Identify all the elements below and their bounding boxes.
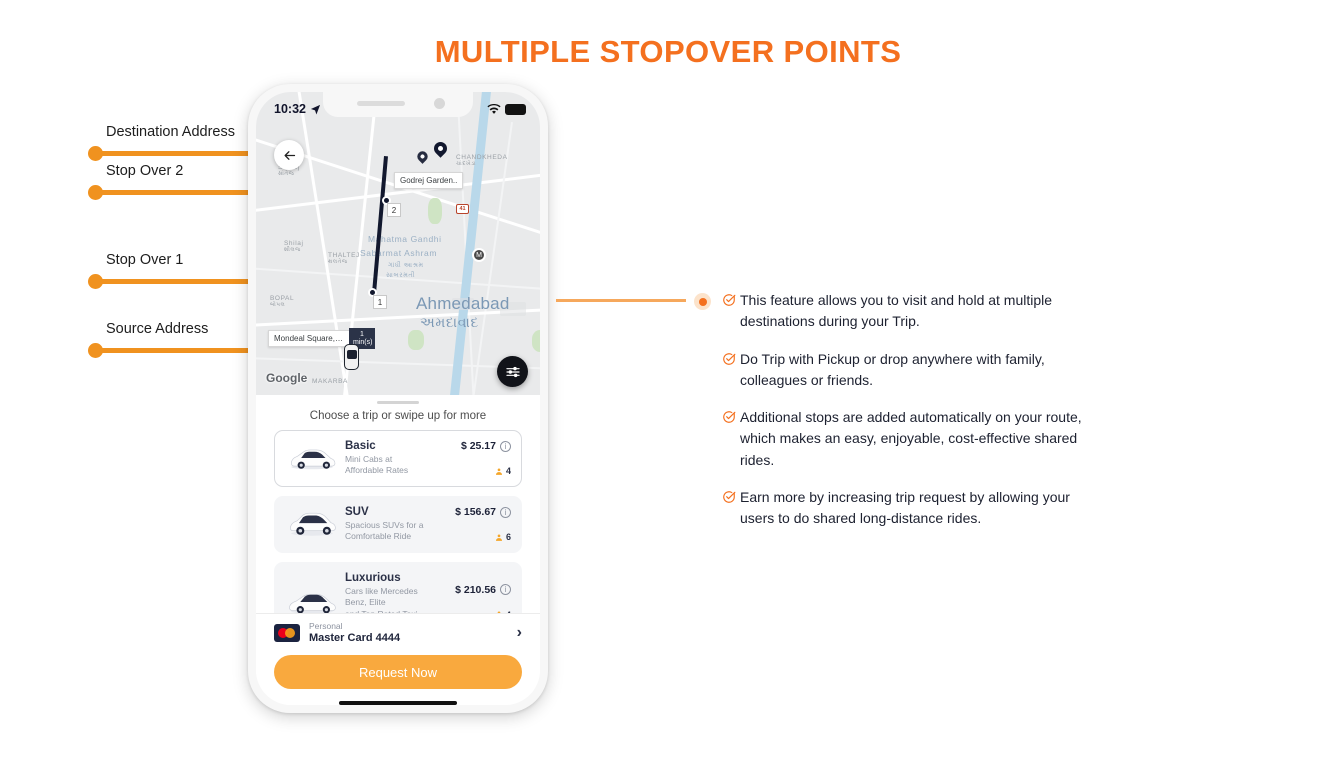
- info-icon[interactable]: i: [500, 441, 511, 452]
- phone-mockup: 10:32: [248, 84, 548, 713]
- ride-option-meta: $ 210.56i4: [439, 584, 511, 613]
- feature-item-3: Additional stops are added automatically…: [722, 407, 1102, 471]
- ride-option-price-row: $ 25.17i: [439, 440, 511, 452]
- ride-option-price: $ 25.17: [461, 440, 496, 452]
- map-filter-button[interactable]: [497, 356, 528, 387]
- map-place-label: BOPALબોપલ: [270, 295, 294, 309]
- map-place-label: MAKARBA: [312, 378, 348, 385]
- map-place-label: Shilajશીલજ: [284, 240, 304, 254]
- speaker-grill: [357, 101, 405, 106]
- circle-check-icon: [722, 487, 740, 530]
- location-arrow-icon: [310, 104, 321, 115]
- map-park: [532, 330, 540, 352]
- person-icon: [495, 533, 503, 542]
- mastercard-icon: [274, 624, 300, 642]
- ride-option-basic[interactable]: BasicMini Cabs atAffordable Rates$ 25.17…: [274, 430, 522, 487]
- callout-label: Stop Over 2: [106, 163, 183, 179]
- ride-option-name: SUV: [345, 506, 439, 518]
- ride-option-price: $ 210.56: [455, 584, 496, 596]
- map-park-label-gu2: સાબરમતી: [386, 272, 415, 280]
- ride-option-name: Basic: [345, 440, 439, 452]
- trip-sheet: Choose a trip or swipe up for more Basic…: [256, 395, 540, 705]
- circle-check-icon: [722, 407, 740, 471]
- feature-item-text: Do Trip with Pickup or drop anywhere wit…: [740, 349, 1102, 392]
- callout-label: Stop Over 1: [106, 252, 183, 268]
- payment-type: Personal: [309, 621, 517, 631]
- ride-option-info: LuxuriousCars like Mercedes Benz, Elitea…: [339, 572, 439, 613]
- person-icon: [495, 467, 503, 476]
- status-time: 10:32: [274, 102, 306, 116]
- feature-item-4: Earn more by increasing trip request by …: [722, 487, 1102, 530]
- ride-option-desc: Mini Cabs atAffordable Rates: [345, 454, 439, 477]
- map-park: [408, 330, 424, 350]
- sheet-grab-handle[interactable]: [377, 401, 419, 404]
- ride-option-capacity: 6: [439, 532, 511, 542]
- ride-option-desc: Cars like Mercedes Benz, Eliteand Top Ra…: [345, 586, 439, 613]
- back-arrow-icon: [282, 148, 297, 163]
- phone-screen: 10:32: [256, 92, 540, 705]
- request-now-button[interactable]: Request Now: [274, 655, 522, 689]
- ride-option-price-row: $ 210.56i: [439, 584, 511, 596]
- feature-item-text: Additional stops are added automatically…: [740, 407, 1102, 471]
- back-button[interactable]: [274, 140, 304, 170]
- suv-car-icon: [285, 507, 339, 541]
- ride-option-meta: $ 25.17i4: [439, 440, 511, 476]
- feature-item-2: Do Trip with Pickup or drop anywhere wit…: [722, 349, 1102, 392]
- map-park: [428, 198, 442, 224]
- capacity-value: 4: [506, 466, 511, 476]
- luxury-car-icon: [285, 585, 339, 613]
- ride-option-info: SUVSpacious SUVs for aComfortable Ride: [339, 506, 439, 543]
- ride-option-meta: $ 156.67i6: [439, 506, 511, 542]
- payment-row[interactable]: Personal Master Card 4444 ›: [256, 613, 540, 651]
- map-view[interactable]: SantejસાંતેજCHANDKHEDAચાંદખેડાShilajશીલજ…: [256, 92, 540, 395]
- map-city-label-en: Ahmedabad: [416, 294, 509, 314]
- feature-item-text: Earn more by increasing trip request by …: [740, 487, 1102, 530]
- map-park-label-en2: Sabarmat Ashram: [360, 248, 437, 258]
- map-city-label-gu: અમદાવાદ: [420, 314, 479, 331]
- ride-option-info: BasicMini Cabs atAffordable Rates: [339, 440, 439, 477]
- home-indicator: [339, 701, 457, 705]
- callout-label: Source Address: [106, 321, 208, 337]
- page-title: MULTIPLE STOPOVER POINTS: [0, 34, 1336, 70]
- stop-number-1: 1: [373, 295, 387, 309]
- google-attribution: Google: [266, 371, 307, 385]
- vehicle-marker: [344, 344, 359, 370]
- info-icon[interactable]: i: [500, 507, 511, 518]
- feature-item-text: This feature allows you to visit and hol…: [740, 290, 1102, 333]
- circle-check-icon: [722, 290, 740, 333]
- feature-connector-dot: [694, 293, 711, 310]
- payment-card: Master Card 4444: [309, 632, 517, 644]
- feature-list: This feature allows you to visit and hol…: [722, 290, 1102, 545]
- map-place-label: CHANDKHEDAચાંદખેડા: [456, 154, 508, 168]
- ride-option-name: Luxurious: [345, 572, 439, 584]
- ride-option-capacity: 4: [439, 466, 511, 476]
- ride-option-suv[interactable]: SUVSpacious SUVs for aComfortable Ride$ …: [274, 496, 522, 553]
- battery-icon: [505, 104, 526, 115]
- phone-notch: [323, 92, 473, 117]
- chevron-right-icon[interactable]: ›: [517, 624, 522, 642]
- highway-shield: 41: [456, 204, 469, 214]
- ride-option-luxurious[interactable]: LuxuriousCars like Mercedes Benz, Elitea…: [274, 562, 522, 613]
- stop-number-2: 2: [387, 203, 401, 217]
- ride-option-desc: Spacious SUVs for aComfortable Ride: [345, 520, 439, 543]
- metro-station-icon: M: [472, 248, 486, 262]
- status-time-group: 10:32: [274, 102, 321, 116]
- map-place-label: THALTEJથલતેજ: [328, 252, 360, 266]
- payment-text: Personal Master Card 4444: [300, 621, 517, 644]
- circle-check-icon: [722, 349, 740, 392]
- destination-tooltip: Godrej Garden..: [394, 172, 463, 189]
- ride-option-price: $ 156.67: [455, 506, 496, 518]
- info-icon[interactable]: i: [500, 584, 511, 595]
- ride-option-list: BasicMini Cabs atAffordable Rates$ 25.17…: [256, 430, 540, 613]
- feature-connector-line: [556, 299, 686, 302]
- filter-sliders-icon: [505, 364, 521, 380]
- destination-pin-secondary: [415, 149, 430, 164]
- sedan-car-icon: [285, 441, 339, 475]
- ride-option-price-row: $ 156.67i: [439, 506, 511, 518]
- callout-label: Destination Address: [106, 124, 235, 140]
- sheet-prompt: Choose a trip or swipe up for more: [256, 410, 540, 422]
- poster-canvas: MULTIPLE STOPOVER POINTS Destination Add…: [0, 0, 1336, 758]
- destination-pin: [431, 139, 449, 157]
- map-park-label-gu: ગાંધી આશ્રમ: [388, 262, 424, 270]
- capacity-value: 6: [506, 532, 511, 542]
- status-icons: [487, 104, 526, 115]
- source-tooltip: Mondeal Square, Pr...: [268, 330, 350, 347]
- front-camera: [434, 98, 445, 109]
- wifi-icon: [487, 104, 501, 115]
- feature-item-1: This feature allows you to visit and hol…: [722, 290, 1102, 333]
